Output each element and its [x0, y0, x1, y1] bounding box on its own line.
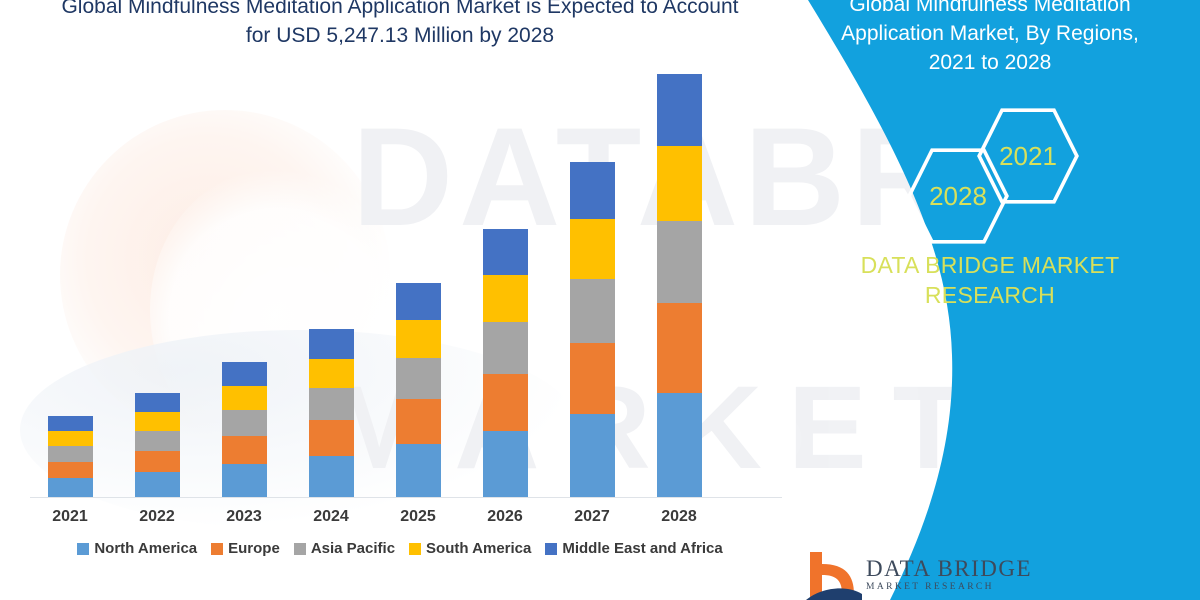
x-axis-label-2026: 2026	[465, 508, 545, 526]
bar-segment-2023-middle-east-and-africa[interactable]	[222, 362, 267, 386]
logo-wordmark: DATA BRIDGE	[866, 556, 1032, 582]
bar-segment-2026-asia-pacific[interactable]	[483, 322, 528, 374]
legend-item-middle-east-and-africa[interactable]: Middle East and Africa	[545, 540, 722, 557]
bar-segment-2027-middle-east-and-africa[interactable]	[570, 162, 615, 220]
bar-segment-2021-south-america[interactable]	[48, 431, 93, 446]
legend-swatch-icon	[211, 543, 223, 555]
bar-segment-2025-europe[interactable]	[396, 399, 441, 444]
legend-item-north-america[interactable]: North America	[77, 540, 197, 557]
bar-segment-2022-europe[interactable]	[135, 451, 180, 472]
x-axis-label-2022: 2022	[117, 508, 197, 526]
panel-title-line-3: 2021 to 2028	[790, 48, 1190, 77]
bar-segment-2022-south-america[interactable]	[135, 412, 180, 431]
bar-segment-2022-asia-pacific[interactable]	[135, 431, 180, 451]
bar-segment-2021-north-america[interactable]	[48, 478, 93, 497]
panel-content: Global Mindfulness Meditation Applicatio…	[780, 0, 1200, 600]
bar-2024[interactable]	[309, 329, 354, 497]
bar-segment-2028-south-america[interactable]	[657, 146, 702, 220]
data-bridge-logo: DATA BRIDGE MARKET RESEARCH	[806, 550, 1126, 600]
legend-label: Asia Pacific	[311, 540, 395, 557]
bar-segment-2028-asia-pacific[interactable]	[657, 221, 702, 304]
x-axis-labels: 20212022202320242025202620272028	[0, 508, 800, 536]
axis-baseline	[30, 497, 782, 498]
bar-segment-2026-middle-east-and-africa[interactable]	[483, 229, 528, 275]
bar-segment-2021-middle-east-and-africa[interactable]	[48, 416, 93, 431]
brand-line-1: DATA BRIDGE MARKET	[800, 250, 1180, 280]
bar-segment-2025-north-america[interactable]	[396, 444, 441, 497]
bridge-mark-icon	[806, 550, 862, 600]
bar-segment-2024-middle-east-and-africa[interactable]	[309, 329, 354, 359]
bar-segment-2022-middle-east-and-africa[interactable]	[135, 393, 180, 412]
legend-item-asia-pacific[interactable]: Asia Pacific	[294, 540, 395, 557]
panel-title-line-2: Application Market, By Regions,	[790, 19, 1190, 48]
bar-segment-2023-south-america[interactable]	[222, 386, 267, 410]
bar-segment-2025-asia-pacific[interactable]	[396, 358, 441, 399]
stacked-bar-chart: 20212022202320242025202620272028	[0, 0, 800, 600]
legend-swatch-icon	[409, 543, 421, 555]
page-title: Global Mindfulness Meditation Applicatio…	[0, 0, 800, 50]
brand-line-2: RESEARCH	[800, 280, 1180, 310]
legend-label: South America	[426, 540, 531, 557]
bar-2025[interactable]	[396, 283, 441, 497]
chart-legend: North AmericaEuropeAsia PacificSouth Ame…	[0, 540, 800, 557]
bar-segment-2023-asia-pacific[interactable]	[222, 410, 267, 436]
panel-title: Global Mindfulness Meditation Applicatio…	[790, 0, 1190, 77]
bar-segment-2025-south-america[interactable]	[396, 320, 441, 358]
legend-label: Middle East and Africa	[562, 540, 722, 557]
x-axis-label-2025: 2025	[378, 508, 458, 526]
bar-segment-2028-north-america[interactable]	[657, 393, 702, 497]
bar-segment-2021-europe[interactable]	[48, 462, 93, 479]
x-axis-label-2021: 2021	[30, 508, 110, 526]
bar-segment-2024-europe[interactable]	[309, 420, 354, 455]
bar-segment-2026-south-america[interactable]	[483, 275, 528, 322]
bar-segment-2023-europe[interactable]	[222, 436, 267, 464]
hexagon-2028-label: 2028	[929, 181, 987, 212]
bar-2026[interactable]	[483, 229, 528, 497]
bar-segment-2024-north-america[interactable]	[309, 456, 354, 497]
bar-segment-2025-middle-east-and-africa[interactable]	[396, 283, 441, 320]
bar-segment-2023-north-america[interactable]	[222, 464, 267, 497]
bar-2022[interactable]	[135, 393, 180, 497]
bar-segment-2022-north-america[interactable]	[135, 472, 180, 497]
bar-2021[interactable]	[48, 416, 93, 497]
title-line-2: for USD 5,247.13 Million by 2028	[0, 21, 800, 50]
legend-label: North America	[94, 540, 197, 557]
bar-2028[interactable]	[657, 74, 702, 497]
x-axis-label-2024: 2024	[291, 508, 371, 526]
panel-title-line-1: Global Mindfulness Meditation	[790, 0, 1190, 19]
legend-swatch-icon	[77, 543, 89, 555]
panel-watermark-text: BR	[780, 330, 937, 503]
bar-segment-2026-north-america[interactable]	[483, 431, 528, 497]
bar-segment-2024-south-america[interactable]	[309, 359, 354, 389]
plot-area	[30, 60, 780, 497]
bar-segment-2026-europe[interactable]	[483, 374, 528, 431]
bar-segment-2028-middle-east-and-africa[interactable]	[657, 74, 702, 146]
bar-segment-2028-europe[interactable]	[657, 303, 702, 393]
bar-2023[interactable]	[222, 362, 267, 497]
bar-segment-2027-asia-pacific[interactable]	[570, 279, 615, 344]
bar-segment-2021-asia-pacific[interactable]	[48, 446, 93, 461]
legend-swatch-icon	[294, 543, 306, 555]
x-axis-label-2027: 2027	[552, 508, 632, 526]
bar-2027[interactable]	[570, 162, 615, 497]
logo-tagline: MARKET RESEARCH	[866, 582, 994, 592]
bar-segment-2027-south-america[interactable]	[570, 219, 615, 278]
hexagon-2021-label: 2021	[999, 141, 1057, 172]
brand-name: DATA BRIDGE MARKET RESEARCH	[800, 250, 1180, 310]
bar-segment-2027-north-america[interactable]	[570, 414, 615, 497]
hexagon-year-2021: 2021	[976, 104, 1080, 208]
legend-swatch-icon	[545, 543, 557, 555]
legend-item-europe[interactable]: Europe	[211, 540, 280, 557]
bar-segment-2024-asia-pacific[interactable]	[309, 388, 354, 420]
brand-panel: Global Mindfulness Meditation Applicatio…	[780, 0, 1200, 600]
legend-item-south-america[interactable]: South America	[409, 540, 531, 557]
title-line-1: Global Mindfulness Meditation Applicatio…	[0, 0, 800, 21]
x-axis-label-2028: 2028	[639, 508, 719, 526]
bar-segment-2027-europe[interactable]	[570, 343, 615, 414]
legend-label: Europe	[228, 540, 280, 557]
x-axis-label-2023: 2023	[204, 508, 284, 526]
